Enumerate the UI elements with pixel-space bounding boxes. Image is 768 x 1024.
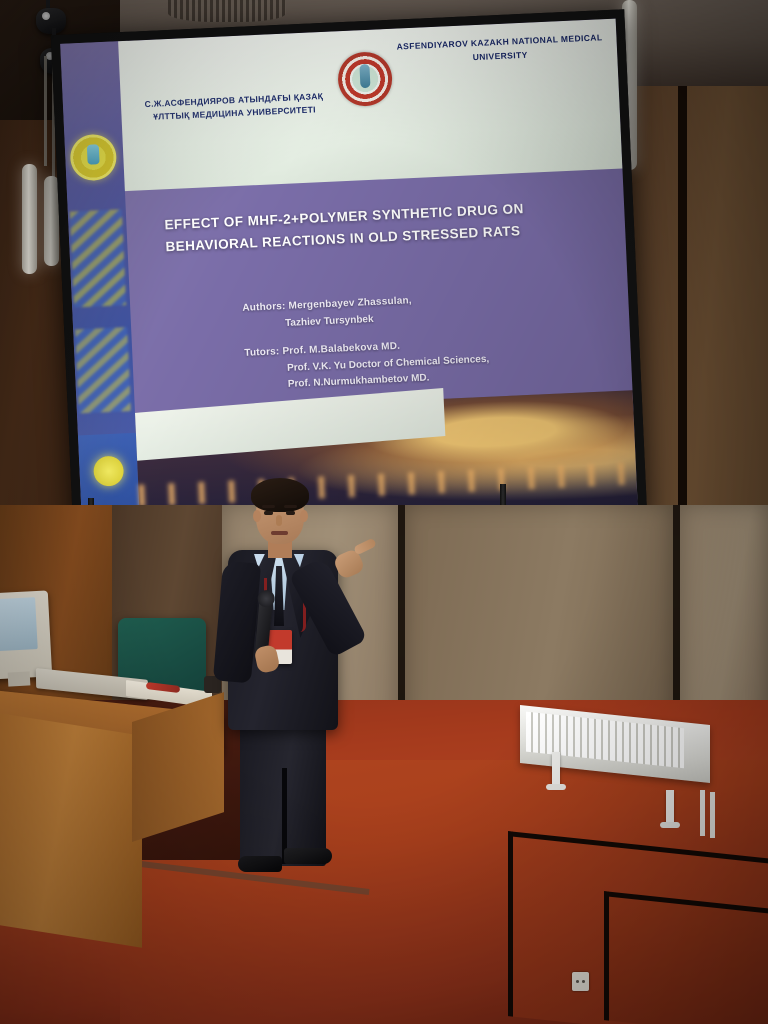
presenter-shoe-right [284, 848, 332, 864]
slide-title: EFFECT OF MHF-2+POLYMER SYNTHETIC DRUG O… [164, 195, 586, 259]
radiator-leg-2 [666, 790, 674, 824]
author-1: Mergenbayev Zhassulan, [288, 295, 412, 312]
slide-photo-white-wedge [135, 388, 445, 461]
university-seal-icon [337, 51, 393, 107]
podium-front-panel [0, 712, 142, 948]
slide-credits: Authors: Mergenbayev Zhassulan, Tazhiev … [242, 285, 606, 396]
tutors-label: Tutors: [244, 346, 280, 359]
pointing-finger [353, 538, 377, 556]
ornament-pattern-2 [75, 327, 131, 413]
radiator-pipe-1 [700, 790, 705, 836]
hanging-tube-light-2 [44, 176, 59, 266]
presenter-eye-right [286, 511, 295, 515]
radiator-leg-1 [552, 752, 560, 786]
presentation-slide: С.Ж.АСФЕНДИЯРОВ АТЫНДАҒЫ ҚАЗАҚ ҰЛТТЫҚ МЕ… [60, 19, 638, 534]
crt-monitor [0, 590, 52, 679]
presenter-brow-left [262, 505, 275, 508]
slide-header-band: С.Ж.АСФЕНДИЯРОВ АТЫНДАҒЫ ҚАЗАҚ ҰЛТТЫҚ МЕ… [118, 19, 622, 191]
stage-step-lower [604, 891, 768, 1024]
authors-label: Authors: [242, 301, 286, 314]
hanging-light-rod-1 [44, 56, 47, 166]
presentation-photo: С.Ж.АСФЕНДИЯРОВ АТЫНДАҒЫ ҚАЗАҚ ҰЛТТЫҚ МЕ… [0, 0, 768, 1024]
monitor-stand [8, 671, 31, 686]
presenter-hair [251, 478, 309, 512]
presenter-ear-left [253, 510, 261, 522]
presenter-shoe-left [238, 856, 282, 872]
english-university-name: ASFENDIYAROV KAZAKH NATIONAL MEDICAL UNI… [394, 31, 605, 68]
ceiling-air-vent-icon [168, 0, 286, 22]
presenter-ear-right [300, 510, 308, 522]
kazakh-university-name: С.Ж.АСФЕНДИЯРОВ АТЫНДАҒЫ ҚАЗАҚ ҰЛТТЫҚ МЕ… [139, 90, 330, 124]
power-outlet-icon [572, 972, 589, 991]
hanging-tube-light-1 [22, 164, 37, 274]
ceiling-spotlight-icon-1 [36, 8, 66, 34]
presenter-brow-right [284, 505, 297, 508]
tutor-1: Prof. M.Balabekova MD. [282, 341, 400, 357]
radiator-fins [526, 712, 684, 769]
presenter-eye-left [264, 511, 273, 515]
radiator-pipe-2 [710, 792, 715, 838]
projection-screen: С.Ж.АСФЕНДИЯРОВ АТЫНДАҒЫ ҚАЗАҚ ҰЛТТЫҚ МЕ… [51, 9, 647, 543]
ornament-pattern-1 [70, 209, 126, 307]
presenter [212, 478, 382, 878]
kazakhstan-emblem-icon [69, 133, 117, 181]
presenter-mouth [271, 531, 288, 535]
presenter-nose [276, 515, 282, 526]
